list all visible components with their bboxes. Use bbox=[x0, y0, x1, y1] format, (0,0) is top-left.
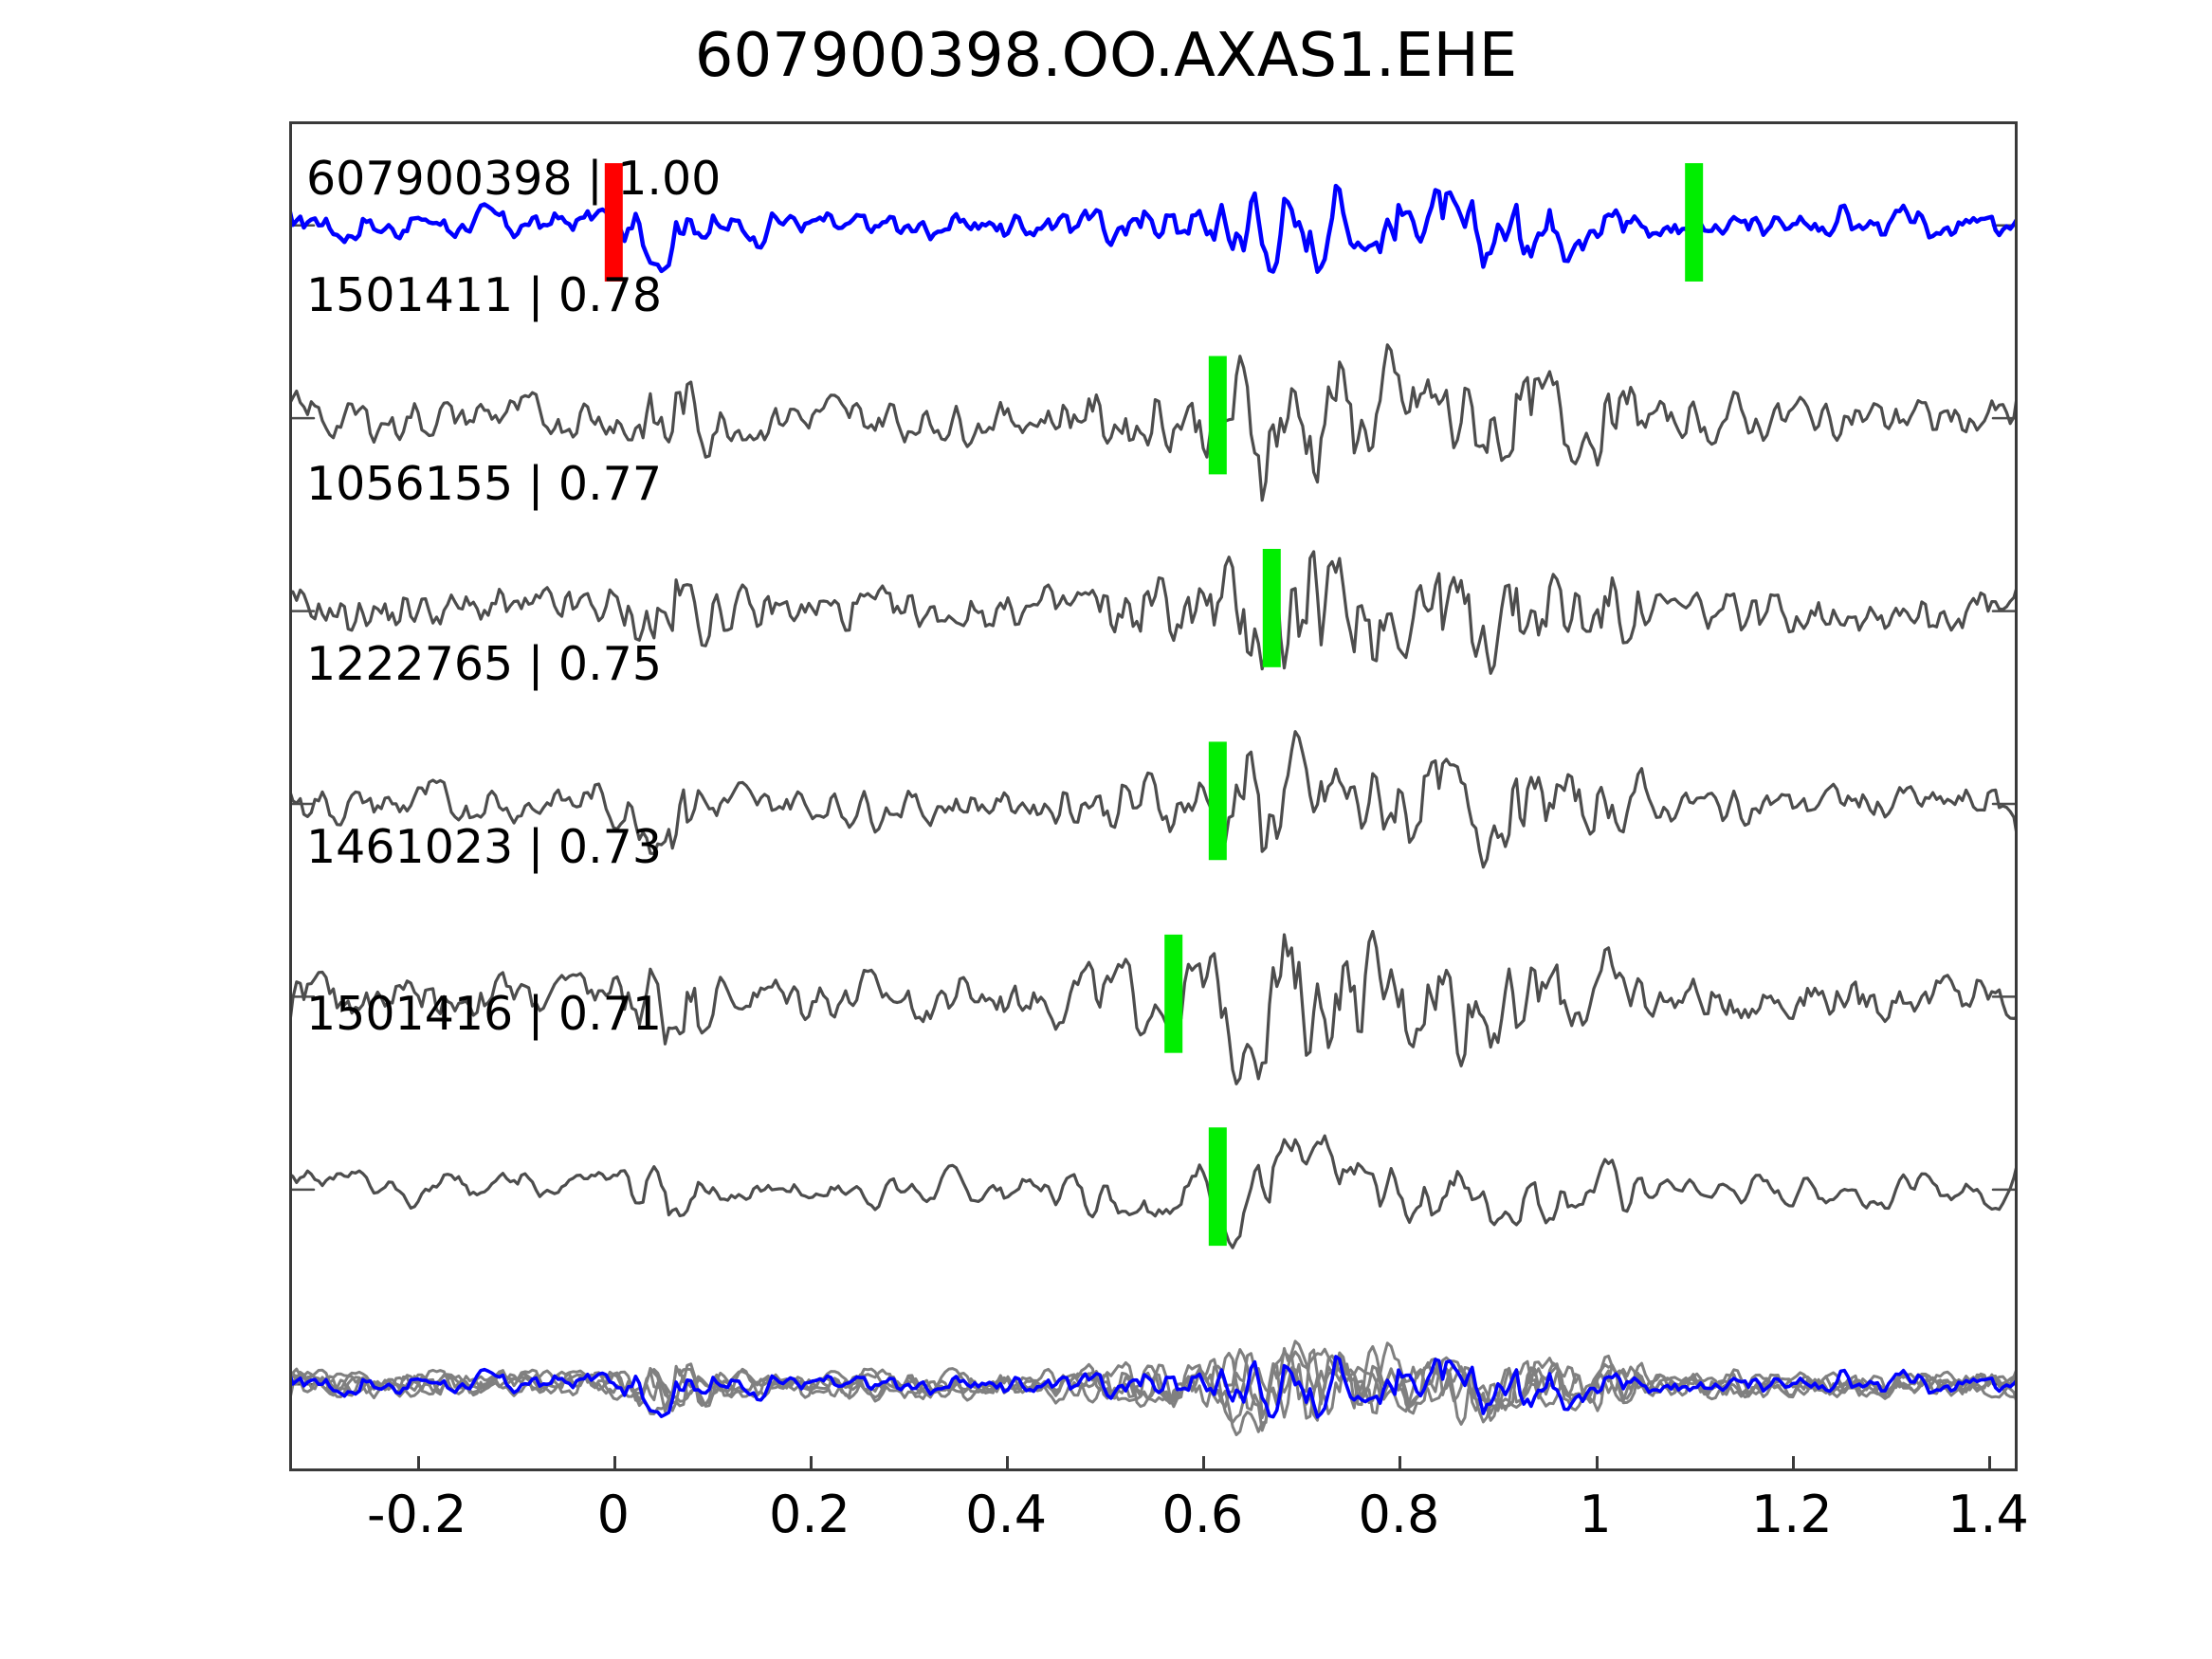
trace-label-2: 1056155 | 0.77 bbox=[306, 461, 662, 507]
waveform-canvas bbox=[289, 121, 2018, 1471]
pick-marker-secondary-1501416 bbox=[1209, 1127, 1227, 1246]
x-tick-mark bbox=[1988, 1456, 1991, 1471]
x-tick-label: 1.4 bbox=[1947, 1485, 2029, 1544]
x-tick-label: 0.4 bbox=[965, 1485, 1047, 1544]
pick-marker-secondary-1461023 bbox=[1164, 935, 1182, 1053]
x-tick-mark bbox=[1006, 1456, 1009, 1471]
seismogram-figure: 607900398.OO.AXAS1.EHE 607900398 | 1.00 … bbox=[0, 0, 2212, 1659]
x-tick-mark bbox=[1596, 1456, 1599, 1471]
x-tick-mark bbox=[810, 1456, 813, 1471]
pick-marker-secondary-1501411 bbox=[1209, 356, 1227, 475]
trace-waveform-1501416 bbox=[289, 1136, 2018, 1248]
x-axis-tick-labels: -0.200.20.40.60.811.21.4 bbox=[289, 1485, 2018, 1560]
trace-label-1: 1501411 | 0.78 bbox=[306, 272, 662, 319]
trace-label-3: 1222765 | 0.75 bbox=[306, 641, 662, 687]
plot-axes: 607900398 | 1.00 1501411 | 0.78 1056155 … bbox=[289, 121, 2018, 1471]
x-tick-label: 0.2 bbox=[769, 1485, 850, 1544]
x-tick-mark bbox=[417, 1456, 420, 1471]
x-tick-label: -0.2 bbox=[367, 1485, 466, 1544]
trace-label-4: 1461023 | 0.73 bbox=[306, 824, 662, 870]
pick-marker-secondary-1056155 bbox=[1263, 549, 1281, 667]
x-tick-label: 1.2 bbox=[1751, 1485, 1833, 1544]
pick-marker-secondary-1222765 bbox=[1209, 741, 1227, 860]
x-tick-label: 0.6 bbox=[1161, 1485, 1243, 1544]
x-tick-mark bbox=[1792, 1456, 1795, 1471]
x-tick-label: 0 bbox=[597, 1485, 630, 1544]
x-tick-label: 0.8 bbox=[1358, 1485, 1439, 1544]
page-title: 607900398.OO.AXAS1.EHE bbox=[0, 21, 2212, 91]
trace-label-5: 1501416 | 0.71 bbox=[306, 991, 662, 1037]
x-tick-mark bbox=[1398, 1456, 1401, 1471]
x-tick-mark bbox=[613, 1456, 616, 1471]
pick-marker-secondary-607900398 bbox=[1685, 163, 1703, 282]
x-tick-mark bbox=[1202, 1456, 1205, 1471]
x-tick-label: 1 bbox=[1579, 1485, 1611, 1544]
trace-label-0: 607900398 | 1.00 bbox=[306, 155, 721, 202]
